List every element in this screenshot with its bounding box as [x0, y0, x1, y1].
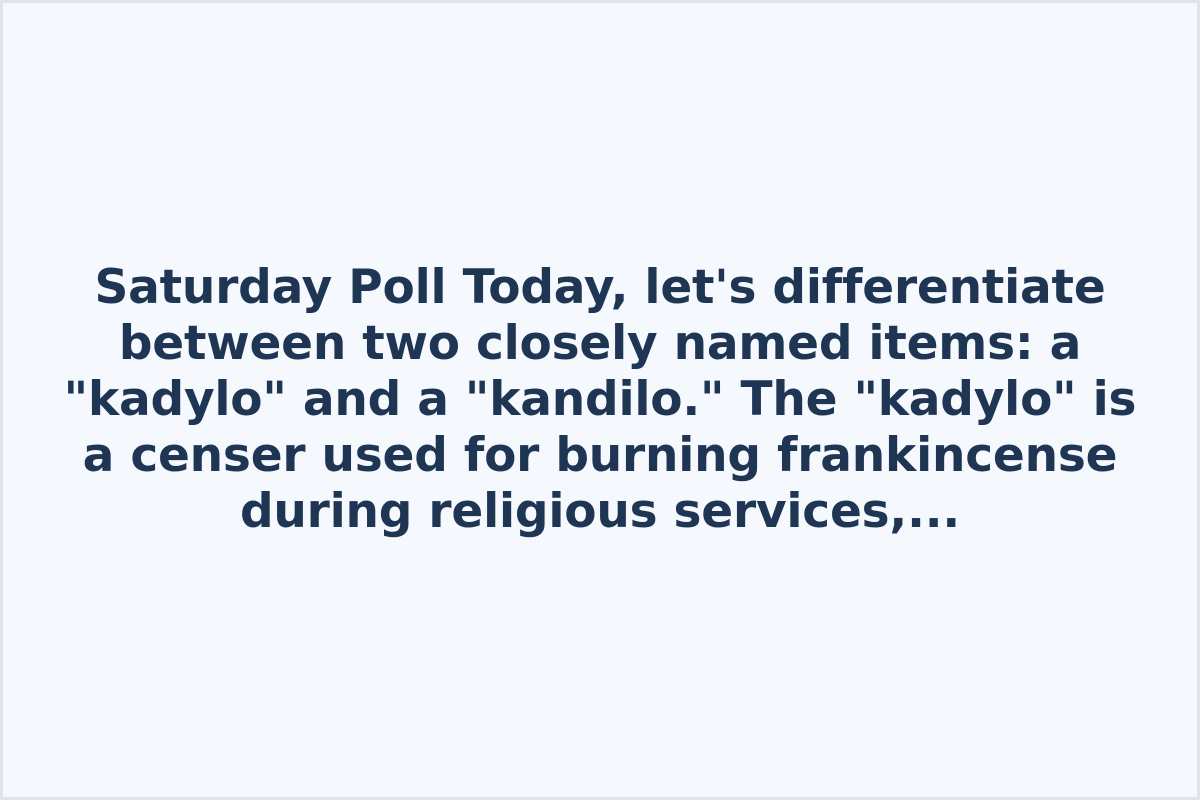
- text-card: Saturday Poll Today, let's differentiate…: [0, 0, 1200, 800]
- card-body-text: Saturday Poll Today, let's differentiate…: [45, 260, 1155, 540]
